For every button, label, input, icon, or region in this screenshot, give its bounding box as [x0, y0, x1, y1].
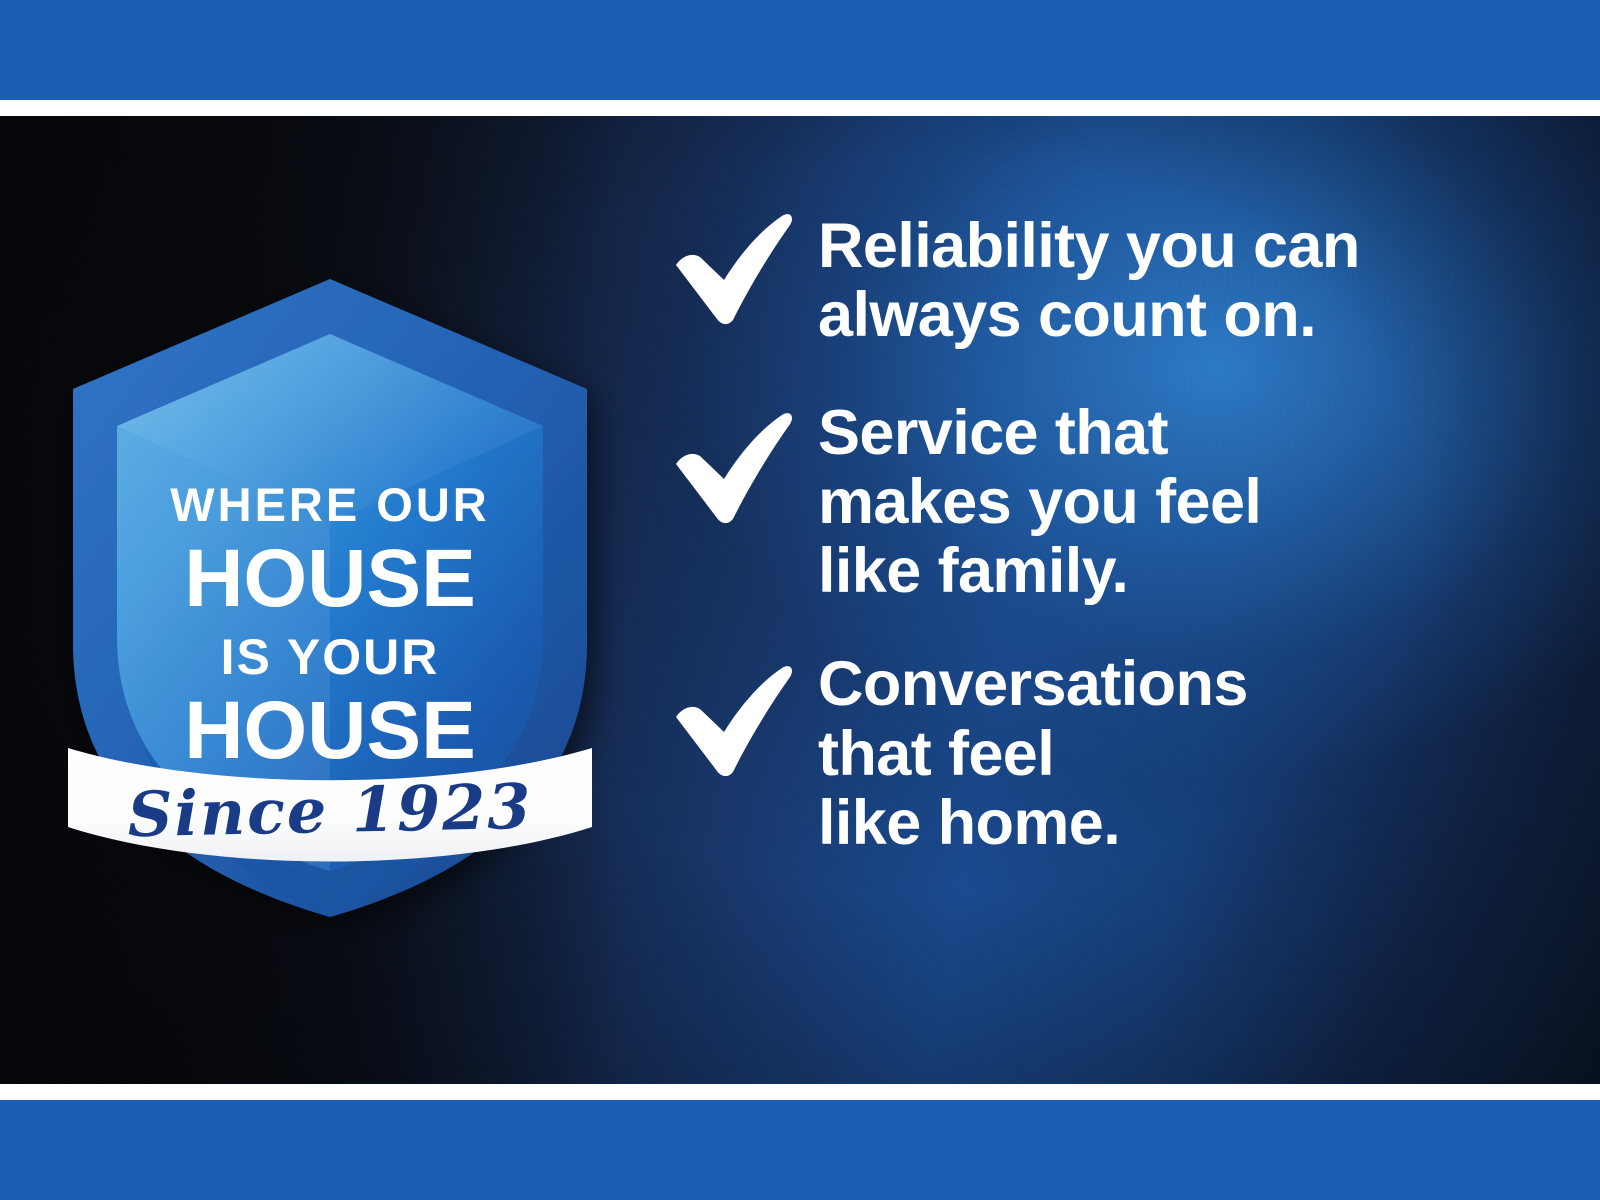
content-stage: WHERE OUR HOUSE IS YOUR HOUSE Since 1923… — [0, 116, 1600, 1084]
benefit-line: Reliability you can — [818, 212, 1360, 281]
benefit-item-reliability: Reliability you can always count on. — [668, 208, 1528, 351]
benefit-line: always count on. — [818, 281, 1360, 350]
ad-banner: WHERE OUR HOUSE IS YOUR HOUSE Since 1923… — [0, 0, 1600, 1200]
shield-badge: WHERE OUR HOUSE IS YOUR HOUSE Since 1923 — [60, 271, 600, 921]
benefit-item-conversations: Conversations that feel like home. — [668, 646, 1528, 858]
checkmark-icon — [668, 407, 796, 527]
top-blue-bar — [0, 0, 1600, 100]
checkmark-icon — [668, 208, 796, 328]
checkmark-icon — [668, 660, 796, 780]
benefit-line: Service that — [818, 399, 1261, 468]
benefits-list: Reliability you can always count on. Ser… — [668, 208, 1528, 858]
benefit-line: that feel — [818, 720, 1248, 789]
benefit-line: like home. — [818, 789, 1248, 858]
benefit-line: Conversations — [818, 650, 1248, 719]
benefit-text-conversations: Conversations that feel like home. — [818, 646, 1248, 858]
benefit-line: like family. — [818, 537, 1261, 606]
benefit-text-reliability: Reliability you can always count on. — [818, 208, 1360, 351]
benefit-item-service: Service that makes you feel like family. — [668, 395, 1528, 607]
benefit-text-service: Service that makes you feel like family. — [818, 395, 1261, 607]
bottom-white-gap — [0, 1084, 1600, 1100]
shield-graphic — [60, 271, 600, 921]
top-white-gap — [0, 100, 1600, 116]
bottom-blue-bar — [0, 1100, 1600, 1200]
benefit-line: makes you feel — [818, 468, 1261, 537]
